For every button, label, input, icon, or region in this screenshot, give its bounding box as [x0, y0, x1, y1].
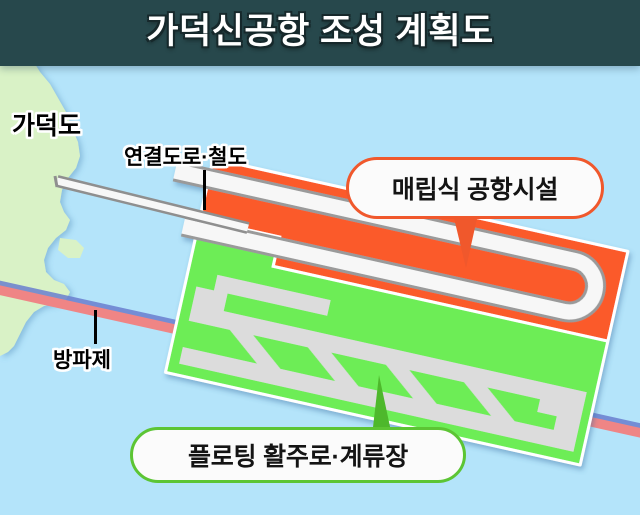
callout-floating-text: 플로팅 활주로·계류장: [188, 437, 408, 473]
callout-floating-runway: 플로팅 활주로·계류장: [130, 427, 466, 483]
connecting-road-leader-line: [203, 170, 206, 210]
label-connecting-road: 연결도로·철도: [124, 141, 247, 171]
page-title: 가덕신공항 조성 계획도: [0, 0, 640, 66]
breakwater-leader-line: [94, 310, 97, 344]
label-gadeokdo: 가덕도: [12, 106, 81, 142]
callout-reclaimed-text: 매립식 공항시설: [392, 170, 558, 206]
callout-reclaimed-airport-facility: 매립식 공항시설: [346, 157, 604, 219]
label-breakwater: 방파제: [53, 344, 111, 374]
infographic-canvas: 가덕도 연결도로·철도 방파제 매립식 공항시설 플로팅 활주로·계류장 가덕신…: [0, 0, 640, 515]
